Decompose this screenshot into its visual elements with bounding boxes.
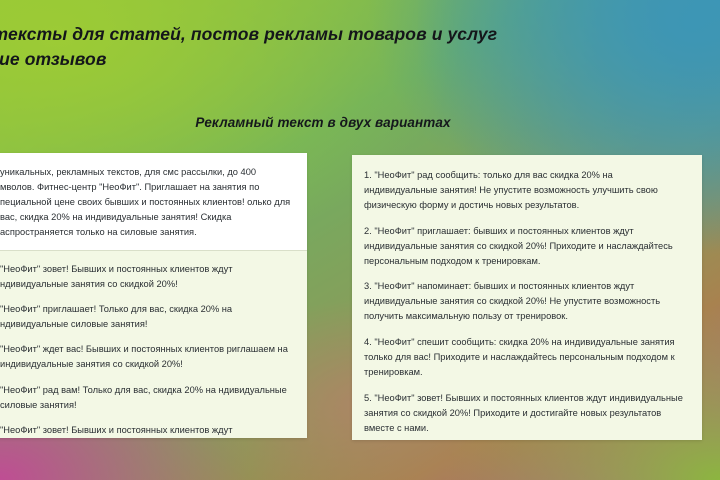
left-panel-variants-section: "НеоФит" зовет! Бывших и постоянных клие…	[0, 251, 307, 438]
list-item: "НеоФит" зовет! Бывших и постоянных клие…	[0, 262, 293, 292]
list-item: 5. "НеоФит" зовет! Бывших и постоянных к…	[364, 391, 686, 436]
left-panel-intro-text: уникальных, рекламных текстов, для смс р…	[0, 165, 293, 240]
list-item: "НеоФит" зовет! Бывших и постоянных клие…	[0, 423, 293, 438]
list-item: "НеоФит" рад вам! Только для вас, скидка…	[0, 383, 293, 413]
subtitle: Рекламный текст в двух вариантах	[0, 115, 720, 130]
list-item: 4. "НеоФит" спешит сообщить: скидка 20% …	[364, 335, 686, 380]
list-item: 1. "НеоФит" рад сообщить: только для вас…	[364, 168, 686, 213]
list-item: "НеоФит" приглашает! Только для вас, ски…	[0, 302, 293, 332]
list-item: 2. "НеоФит" приглашает: бывших и постоян…	[364, 224, 686, 269]
slide-canvas: кие тексты для статей, постов рекламы то…	[0, 0, 720, 480]
page-title: кие тексты для статей, постов рекламы то…	[0, 22, 598, 72]
left-text-panel: уникальных, рекламных текстов, для смс р…	[0, 153, 307, 438]
list-item: "НеоФит" ждет вас! Бывших и постоянных к…	[0, 342, 293, 372]
right-text-panel: 1. "НеоФит" рад сообщить: только для вас…	[352, 155, 702, 440]
list-item: 3. "НеоФит" напоминает: бывших и постоян…	[364, 279, 686, 324]
left-panel-intro-section: уникальных, рекламных текстов, для смс р…	[0, 153, 307, 251]
